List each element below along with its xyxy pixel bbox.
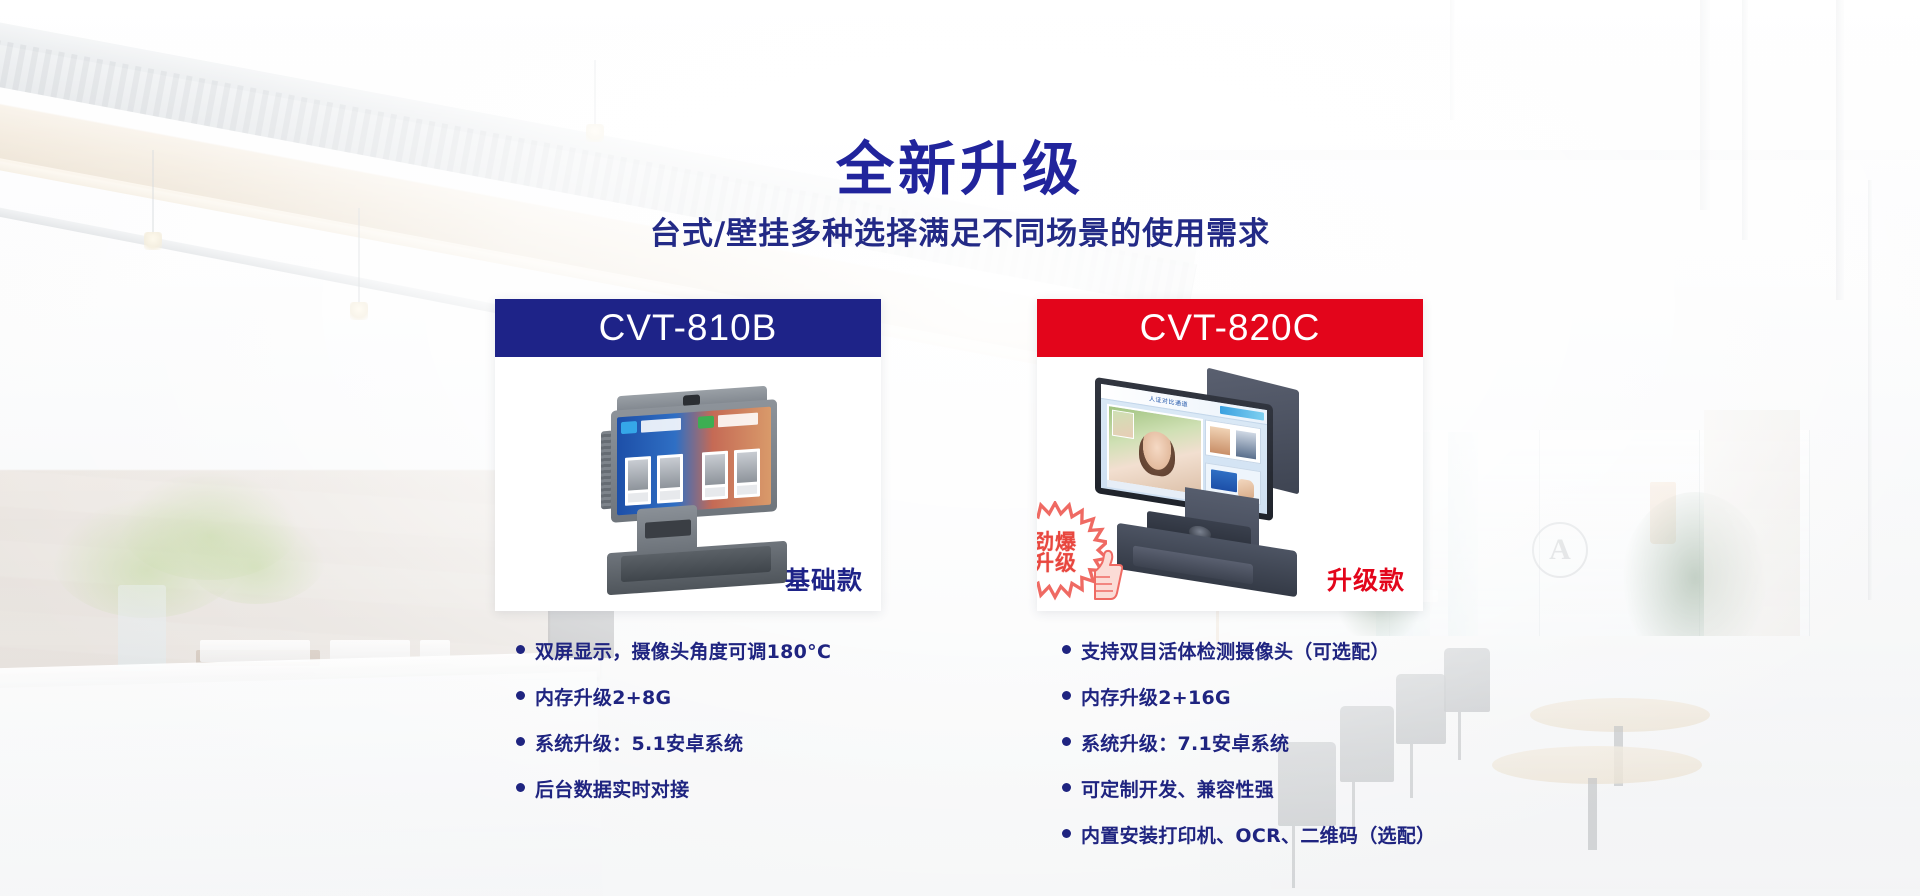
- portrait-name: [737, 485, 757, 495]
- screen-portrait-4: [734, 448, 760, 498]
- feature-item: 内置安装打印机、OCR、二维码（选配）: [1062, 821, 1435, 848]
- feature-list-820c: 支持双目活体检测摄像头（可选配） 内存升级2+16G 系统升级：7.1安卓系统 …: [1062, 637, 1435, 867]
- banner-stage: A 全新升级 台式/壁挂多种选择满足不同: [0, 0, 1920, 896]
- bullet-icon: [1062, 691, 1071, 700]
- id-photo-compare: [1205, 419, 1261, 464]
- device-image-desktop-kiosk: [573, 379, 803, 597]
- page-title: 全新升级: [0, 122, 1920, 206]
- portrait-photo: [737, 452, 757, 483]
- monitor-icon: [1211, 469, 1237, 492]
- tier-label-upgraded: 升级款: [1327, 561, 1405, 597]
- id-photo-a: [1210, 426, 1230, 455]
- feature-text: 内置安装打印机、OCR、二维码（选配）: [1081, 821, 1435, 848]
- face-thumbnail: [1112, 410, 1134, 439]
- page-subtitle: 台式/壁挂多种选择满足不同场景的使用需求: [0, 208, 1920, 253]
- screen-caption-right: [718, 413, 758, 428]
- feature-text: 可定制开发、兼容性强: [1081, 775, 1274, 802]
- screen-chip-blue: [621, 421, 637, 434]
- feature-item: 内存升级2+8G: [516, 683, 831, 710]
- screen-half-right: [694, 407, 771, 510]
- portrait-name: [705, 487, 725, 497]
- portrait-name: [660, 490, 680, 500]
- feature-list-810b: 双屏显示，摄像头角度可调180°C 内存升级2+8G 系统升级：5.1安卓系统 …: [516, 637, 831, 821]
- person-face: [1139, 429, 1175, 479]
- thumbs-up-icon: [1081, 549, 1123, 601]
- bullet-icon: [1062, 737, 1071, 746]
- tier-label-basic: 基础款: [785, 561, 863, 597]
- feature-text: 系统升级：5.1安卓系统: [535, 729, 743, 756]
- screen-portrait-2: [657, 454, 683, 504]
- product-card-cvt-810b[interactable]: CVT-810B: [495, 299, 881, 611]
- feature-item: 双屏显示，摄像头角度可调180°C: [516, 637, 831, 664]
- bullet-icon: [1062, 783, 1071, 792]
- bullet-icon: [516, 691, 525, 700]
- product-image-820c: 人证对比通道: [1037, 357, 1423, 611]
- feature-text: 内存升级2+16G: [1081, 683, 1231, 710]
- portrait-photo: [628, 459, 648, 490]
- promo-starburst-badge: 劲爆 升级: [1037, 501, 1107, 605]
- feature-item: 系统升级：5.1安卓系统: [516, 729, 831, 756]
- screen-chip-green: [698, 416, 714, 429]
- product-image-810b: 基础款: [495, 357, 881, 611]
- portrait-photo: [705, 454, 725, 485]
- feature-text: 支持双目活体检测摄像头（可选配）: [1081, 637, 1390, 664]
- bullet-icon: [516, 737, 525, 746]
- promo-badge-line1: 劲爆: [1037, 532, 1077, 553]
- product-card-cvt-820c[interactable]: CVT-820C 人证对比通道: [1037, 299, 1423, 611]
- id-photo-b: [1236, 430, 1256, 459]
- device-image-aframe-terminal: 人证对比通道: [1089, 373, 1337, 599]
- feature-text: 双屏显示，摄像头角度可调180°C: [535, 637, 831, 664]
- feature-text: 系统升级：7.1安卓系统: [1081, 729, 1289, 756]
- feature-item: 可定制开发、兼容性强: [1062, 775, 1435, 802]
- feature-text: 内存升级2+8G: [535, 683, 671, 710]
- device-screen-dual: [617, 407, 771, 516]
- screen-header-text: 人证对比通道: [1149, 393, 1188, 408]
- banner-content: 全新升级 台式/壁挂多种选择满足不同场景的使用需求 CVT-810B: [0, 0, 1920, 896]
- screen-half-left: [617, 412, 694, 515]
- product-model-header-820c: CVT-820C: [1037, 299, 1423, 357]
- promo-badge-line2: 升级: [1037, 553, 1077, 574]
- bullet-icon: [516, 645, 525, 654]
- feature-item: 系统升级：7.1安卓系统: [1062, 729, 1435, 756]
- screen-status-badge: [1220, 406, 1264, 421]
- card-reader-slot: [645, 519, 691, 538]
- bullet-icon: [516, 783, 525, 792]
- portrait-photo: [660, 457, 680, 488]
- screen-portrait-3: [702, 451, 728, 501]
- feature-item: 后台数据实时对接: [516, 775, 831, 802]
- bullet-icon: [1062, 645, 1071, 654]
- feature-text: 后台数据实时对接: [535, 775, 689, 802]
- screen-caption-left: [641, 418, 681, 433]
- feature-item: 支持双目活体检测摄像头（可选配）: [1062, 637, 1435, 664]
- bullet-icon: [1062, 829, 1071, 838]
- screen-portrait-1: [625, 456, 651, 506]
- portrait-name: [628, 492, 648, 502]
- product-model-header-810b: CVT-810B: [495, 299, 881, 357]
- feature-item: 内存升级2+16G: [1062, 683, 1435, 710]
